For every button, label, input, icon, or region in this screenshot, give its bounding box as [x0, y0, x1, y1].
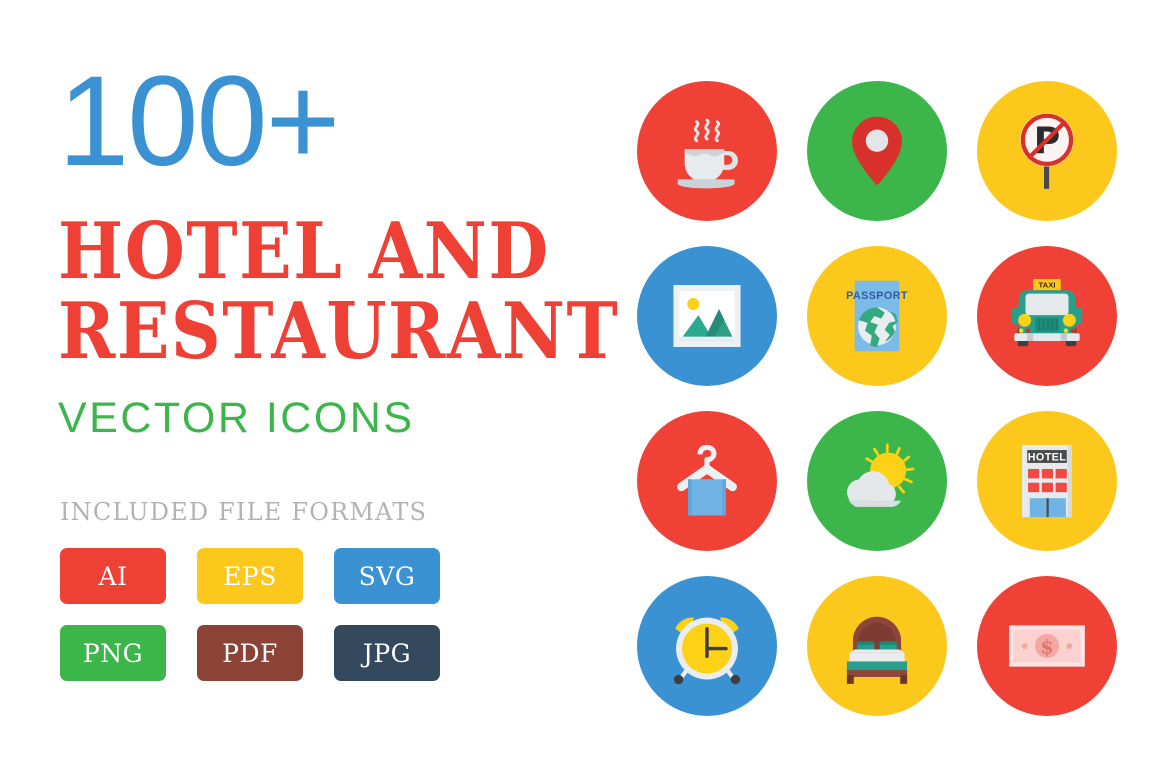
format-chip-jpg[interactable]: JPG — [334, 625, 440, 681]
hotel-building-icon[interactable]: HOTEL — [977, 411, 1117, 551]
included-file-formats-heading: INCLUDED FILE FORMATS — [60, 498, 427, 526]
banknote-symbol: $ — [1040, 636, 1053, 658]
hotel-label: HOTEL — [1028, 451, 1067, 463]
coffee-cup-icon[interactable] — [637, 81, 777, 221]
icon-cell-alarm-clock — [622, 563, 792, 728]
subtitle: VECTOR ICONS — [58, 397, 598, 440]
format-chip-eps[interactable]: EPS — [197, 548, 303, 604]
no-parking-icon[interactable]: P — [977, 81, 1117, 221]
icon-cell-coffee-cup — [622, 68, 792, 233]
icon-cell-location-pin — [792, 68, 962, 233]
icon-cell-banknote: $ — [962, 563, 1132, 728]
icon-cell-passport: PASSPORT — [792, 233, 962, 398]
format-chip-svg[interactable]: SVG — [334, 548, 440, 604]
icon-cell-clothes-hanger — [622, 398, 792, 563]
alarm-clock-icon[interactable] — [637, 576, 777, 716]
poster-canvas: 100+ HOTEL AND RESTAURANT VECTOR ICONS I… — [0, 0, 1160, 772]
icon-cell-bed — [792, 563, 962, 728]
icon-cell-sun-cloud-weather — [792, 398, 962, 563]
file-formats-grid: AI EPS SVG PNG PDF JPG — [60, 548, 471, 681]
format-chip-png[interactable]: PNG — [60, 625, 166, 681]
title-line-1: HOTEL AND — [58, 214, 598, 290]
location-pin-icon[interactable] — [807, 81, 947, 221]
passport-label: PASSPORT — [846, 289, 908, 301]
icon-showcase-grid: P — [622, 68, 1132, 728]
title-line-2: RESTAURANT — [58, 294, 598, 370]
headline-panel: 100+ HOTEL AND RESTAURANT VECTOR ICONS I… — [58, 58, 598, 714]
icon-cell-hotel-building: HOTEL — [962, 398, 1132, 563]
passport-icon[interactable]: PASSPORT — [807, 246, 947, 386]
format-chip-pdf[interactable]: PDF — [197, 625, 303, 681]
taxi-icon[interactable]: TAXI — [977, 246, 1117, 386]
clothes-hanger-icon[interactable] — [637, 411, 777, 551]
icon-count-headline: 100+ — [58, 58, 598, 192]
banknote-icon[interactable]: $ — [977, 576, 1117, 716]
icon-cell-no-parking: P — [962, 68, 1132, 233]
landscape-photo-icon[interactable] — [637, 246, 777, 386]
taxi-label: TAXI — [1038, 280, 1055, 289]
icon-cell-landscape-photo — [622, 233, 792, 398]
format-chip-ai[interactable]: AI — [60, 548, 166, 604]
sun-cloud-weather-icon[interactable] — [807, 411, 947, 551]
bed-icon[interactable] — [807, 576, 947, 716]
title-block: HOTEL AND RESTAURANT — [58, 214, 598, 363]
icon-cell-taxi: TAXI — [962, 233, 1132, 398]
